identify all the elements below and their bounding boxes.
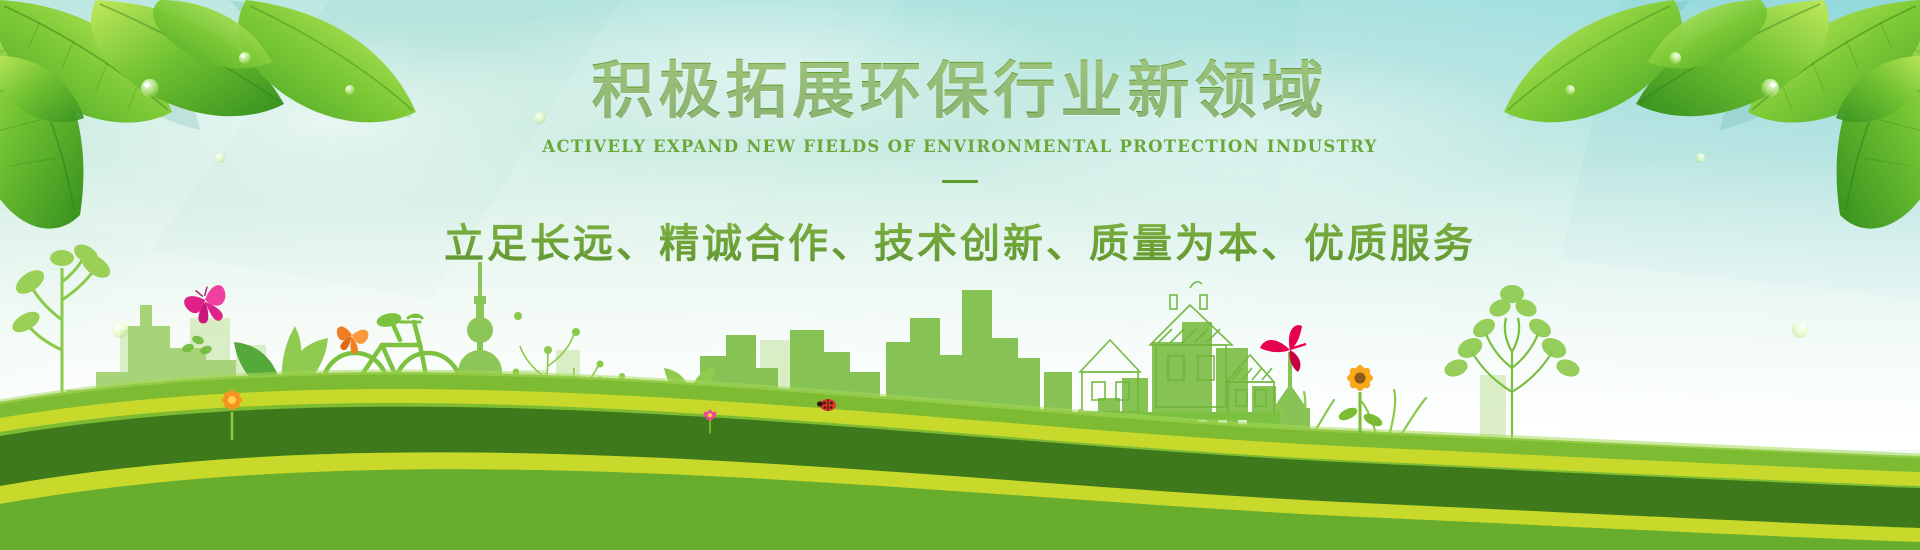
eco-banner: 积极拓展环保行业新领域 ACTIVELY EXPAND NEW FIELDS O… (0, 0, 1920, 550)
leaves-top-right (0, 0, 1920, 550)
